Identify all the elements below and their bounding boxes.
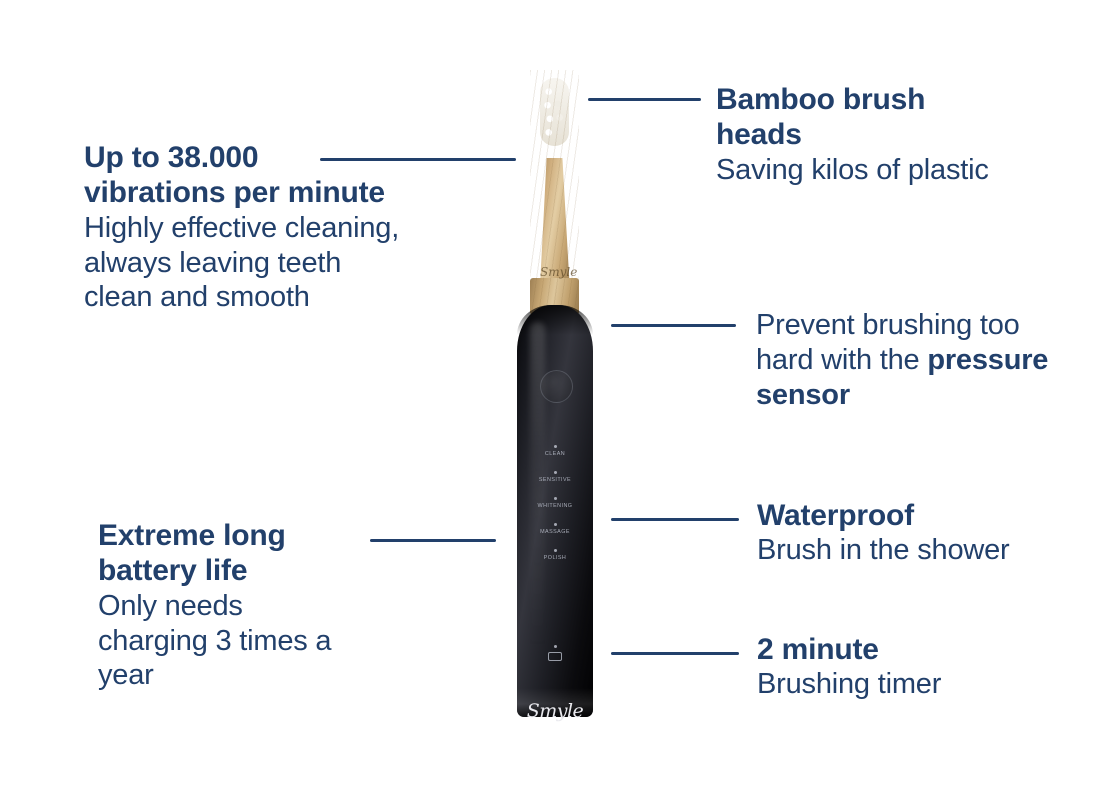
callout-vibrations-body: Highly effective cleaning, always leavin… (84, 211, 404, 315)
callout-battery: Extreme long battery life Only needs cha… (98, 518, 348, 693)
callout-battery-body: Only needs charging 3 times a year (98, 589, 348, 693)
mode-label-clean: CLEAN (517, 451, 593, 457)
callout-waterproof-heading: Waterproof (757, 498, 1087, 533)
handle-top-shading (517, 305, 593, 335)
battery-icon (548, 652, 562, 661)
callout-bamboo-heading: Bamboo brush heads (716, 82, 1016, 153)
power-button-icon[interactable] (540, 370, 573, 403)
mode-indicator-dot (554, 497, 557, 500)
mode-label-sensitive: SENSITIVE (517, 477, 593, 483)
callout-timer: 2 minute Brushing timer (757, 632, 1087, 702)
mode-indicator-dot (554, 471, 557, 474)
battery-status (517, 645, 593, 661)
mode-label-massage: MASSAGE (517, 529, 593, 535)
callout-pressure-body: Prevent brushing too hard with the press… (756, 308, 1056, 412)
callout-timer-body: Brushing timer (757, 667, 1087, 702)
callout-timer-heading: 2 minute (757, 632, 1087, 667)
mode-indicator-dot (554, 549, 557, 552)
callout-waterproof: Waterproof Brush in the shower (757, 498, 1087, 568)
brand-logo: Smyle (517, 700, 593, 722)
mode-item-clean[interactable]: CLEAN (517, 445, 593, 457)
callout-bamboo-body: Saving kilos of plastic (716, 153, 1016, 188)
callout-waterproof-body: Brush in the shower (757, 533, 1087, 568)
mode-label-polish: POLISH (517, 555, 593, 561)
brush-head-logo: Smyle (540, 264, 570, 280)
mode-indicator-dot (554, 445, 557, 448)
mode-label-whitening: WHITENING (517, 503, 593, 509)
mode-item-sensitive[interactable]: SENSITIVE (517, 471, 593, 483)
callout-vibrations-heading: Up to 38.000 vibrations per minute (84, 140, 404, 211)
product-image-toothbrush: Smyle CLEAN SENSITIVE WHITENING MASSAGE (500, 60, 610, 720)
leader-line-waterproof (611, 518, 739, 521)
mode-list: CLEAN SENSITIVE WHITENING MASSAGE POLISH (517, 445, 593, 575)
mode-item-whitening[interactable]: WHITENING (517, 497, 593, 509)
callout-vibrations: Up to 38.000 vibrations per minute Highl… (84, 140, 404, 315)
leader-line-timer (611, 652, 739, 655)
mode-item-massage[interactable]: MASSAGE (517, 523, 593, 535)
mode-indicator-dot (554, 523, 557, 526)
battery-indicator-dot (554, 645, 557, 648)
callout-bamboo: Bamboo brush heads Saving kilos of plast… (716, 82, 1016, 188)
leader-line-pressure (611, 324, 736, 327)
infographic-canvas: Up to 38.000 vibrations per minute Highl… (0, 0, 1095, 795)
callout-pressure: Prevent brushing too hard with the press… (756, 308, 1056, 412)
leader-line-battery (370, 539, 496, 542)
callout-battery-heading: Extreme long battery life (98, 518, 348, 589)
bristles-icon (540, 78, 569, 146)
mode-item-polish[interactable]: POLISH (517, 549, 593, 561)
